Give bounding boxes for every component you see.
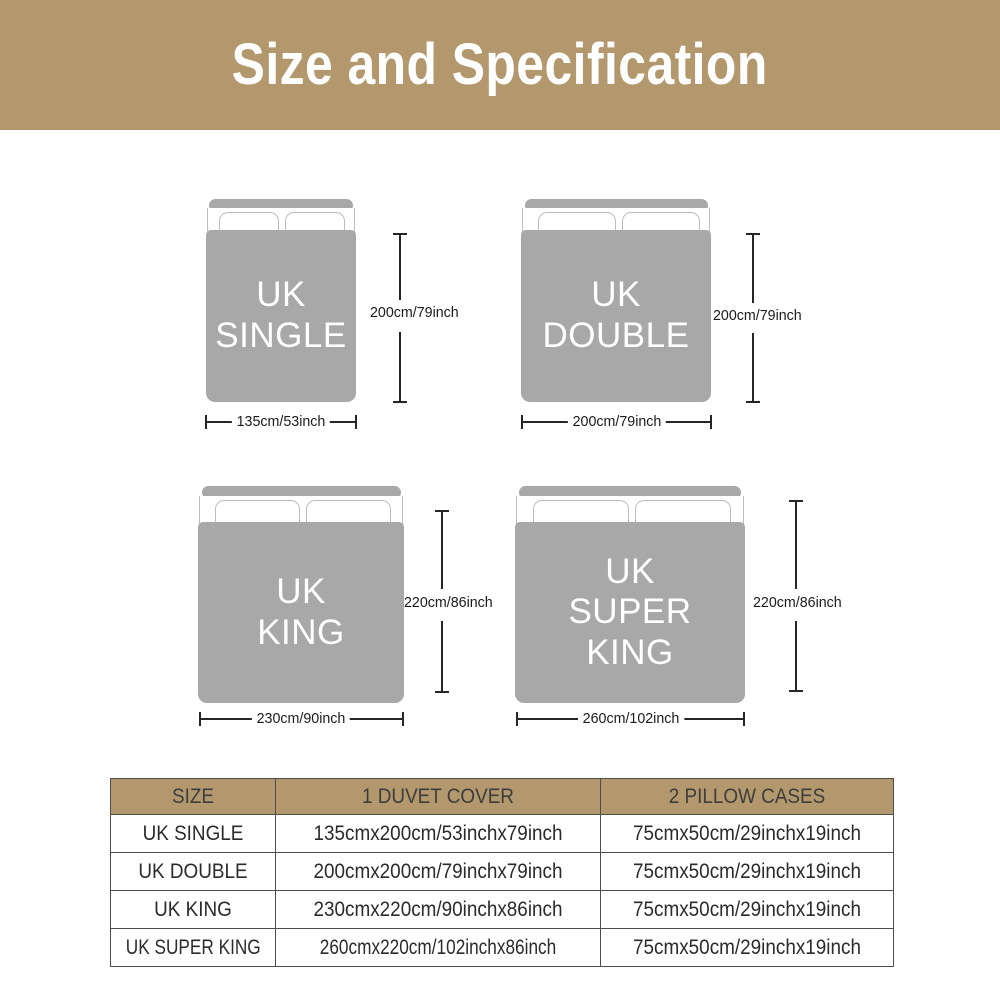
column-header-size-label: SIZE [119,785,267,809]
cell-pillow-cases-label: 75cmx50cm/29inchx19inch [616,822,879,846]
bed-figure-uk-super-king: UK SUPER KING 220cm/86inch 260cm/102inch [0,0,1000,760]
cell-duvet-cover-label: 230cmx220cm/90inchx86inch [292,898,584,922]
cell-duvet-cover: 260cmx220cm/102inchx86inch [276,929,601,967]
cell-size-label: UK SUPER KING [126,936,260,960]
column-header-pillow-cases-label: 2 PILLOW CASES [616,785,879,809]
column-header-size: SIZE [111,779,276,815]
table-header-row: SIZE 1 DUVET COVER 2 PILLOW CASES [111,779,894,815]
cell-pillow-cases-label: 75cmx50cm/29inchx19inch [616,936,879,960]
table-row: UK KING 230cmx220cm/90inchx86inch 75cmx5… [111,891,894,929]
cell-duvet-cover-label: 260cmx220cm/102inchx86inch [305,936,571,960]
cell-duvet-cover: 135cmx200cm/53inchx79inch [276,815,601,853]
bed-label-line-2: SUPER [568,592,691,633]
cell-size-label: UK SINGLE [119,822,267,846]
cell-pillow-cases: 75cmx50cm/29inchx19inch [601,891,894,929]
bed-label-line-3: KING [586,633,674,674]
column-header-duvet-cover-label: 1 DUVET COVER [292,785,584,809]
cell-duvet-cover-label: 135cmx200cm/53inchx79inch [292,822,584,846]
column-header-duvet-cover: 1 DUVET COVER [276,779,601,815]
cell-size: UK KING [111,891,276,929]
cell-size-label: UK DOUBLE [119,860,267,884]
cell-pillow-cases: 75cmx50cm/29inchx19inch [601,929,894,967]
cell-duvet-cover: 200cmx200cm/79inchx79inch [276,853,601,891]
table-row: UK SINGLE 135cmx200cm/53inchx79inch 75cm… [111,815,894,853]
cell-pillow-cases-label: 75cmx50cm/29inchx19inch [616,898,879,922]
bed-width-label: 260cm/102inch [578,710,684,727]
cell-duvet-cover: 230cmx220cm/90inchx86inch [276,891,601,929]
cell-size: UK SINGLE [111,815,276,853]
cell-size: UK DOUBLE [111,853,276,891]
duvet-uk-super-king: UK SUPER KING [515,522,745,703]
cell-pillow-cases: 75cmx50cm/29inchx19inch [601,853,894,891]
specification-table: SIZE 1 DUVET COVER 2 PILLOW CASES UK SIN… [110,778,894,967]
cell-size-label: UK KING [119,898,267,922]
cell-size: UK SUPER KING [111,929,276,967]
size-specification-page: Size and Specification UK SINGLE 200cm/7… [0,0,1000,1000]
bed-height-label: 220cm/86inch [753,594,842,611]
table-row: UK DOUBLE 200cmx200cm/79inchx79inch 75cm… [111,853,894,891]
cell-pillow-cases-label: 75cmx50cm/29inchx19inch [616,860,879,884]
cell-pillow-cases: 75cmx50cm/29inchx19inch [601,815,894,853]
table-row: UK SUPER KING 260cmx220cm/102inchx86inch… [111,929,894,967]
column-header-pillow-cases: 2 PILLOW CASES [601,779,894,815]
bed-label-line-1: UK [605,552,655,593]
cell-duvet-cover-label: 200cmx200cm/79inchx79inch [292,860,584,884]
